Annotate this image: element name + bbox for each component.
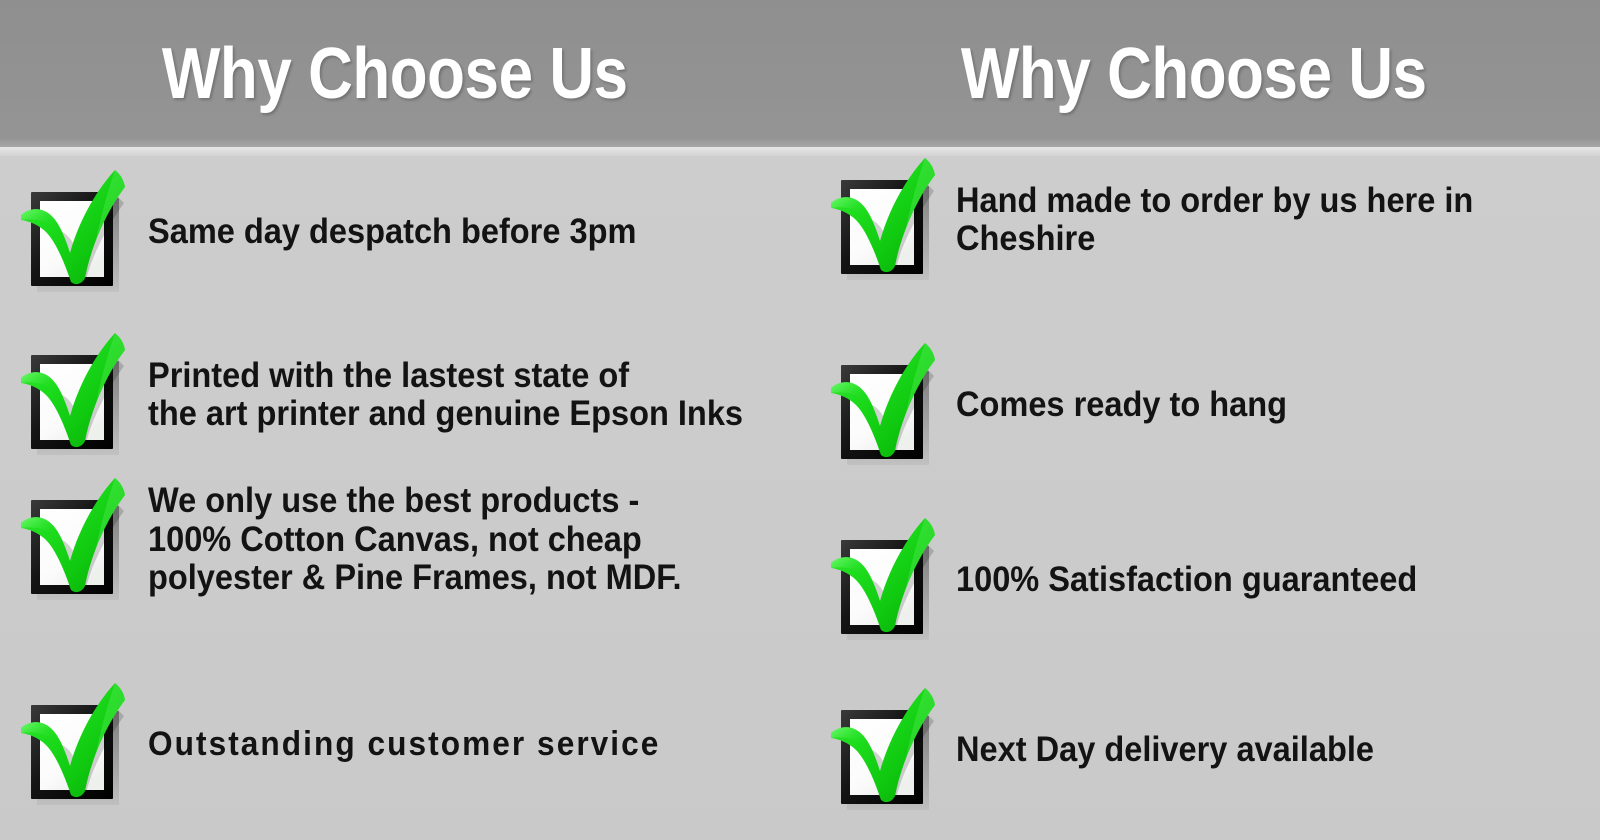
- green-check-mark-icon: [822, 156, 940, 284]
- feature-row-next-day-delivery: Next Day delivery available: [822, 686, 1405, 814]
- green-check-mark-icon: [822, 516, 940, 644]
- feature-row-same-day-despatch: Same day despatch before 3pm: [12, 168, 673, 296]
- feature-row-hand-made-to-order: Hand made to order by us here in Cheshir…: [822, 156, 1512, 284]
- why-choose-us-banner: Why Choose Us Why Choose Us: [0, 0, 1600, 840]
- feature-row-outstanding-customer-service: Outstanding customer service: [12, 681, 699, 809]
- header-band: Why Choose Us Why Choose Us: [0, 0, 1600, 147]
- feature-label-lastest-state-of-the-art-printer: Printed with the lastest state of the ar…: [148, 357, 743, 434]
- green-check-mark-icon: [12, 476, 130, 604]
- green-check-mark-icon: [12, 168, 130, 296]
- header-divider: [0, 147, 1600, 156]
- feature-columns: Same day despatch before 3pm: [0, 156, 1600, 840]
- green-check-mark-icon: [12, 331, 130, 459]
- page-title-right: Why Choose Us: [961, 38, 1427, 110]
- green-check-mark-icon: [12, 168, 130, 296]
- feature-label-outstanding-customer-service: Outstanding customer service: [148, 726, 660, 763]
- page-title-left: Why Choose Us: [162, 38, 628, 110]
- header-half-left: Why Choose Us: [0, 0, 800, 147]
- green-check-mark-icon: [12, 331, 130, 459]
- feature-label-same-day-despatch: Same day despatch before 3pm: [148, 213, 636, 252]
- feature-label-best-products: We only use the best products - 100% Cot…: [148, 482, 682, 598]
- green-check-mark-icon: [822, 686, 940, 814]
- feature-label-hand-made-to-order: Hand made to order by us here in Cheshir…: [956, 182, 1473, 259]
- green-check-mark-icon: [822, 686, 940, 814]
- feature-label-comes-ready-to-hang: Comes ready to hang: [956, 386, 1287, 425]
- green-check-mark-icon: [12, 681, 130, 809]
- green-check-mark-icon: [12, 476, 130, 604]
- left-column: Same day despatch before 3pm: [0, 156, 800, 840]
- feature-label-next-day-delivery: Next Day delivery available: [956, 731, 1374, 770]
- green-check-mark-icon: [822, 156, 940, 284]
- feature-row-satisfaction-guaranteed: 100% Satisfaction guaranteed: [822, 516, 1452, 644]
- header-half-right: Why Choose Us: [800, 0, 1600, 147]
- green-check-mark-icon: [822, 341, 940, 469]
- feature-label-satisfaction-guaranteed: 100% Satisfaction guaranteed: [956, 561, 1417, 600]
- feature-row-comes-ready-to-hang: Comes ready to hang: [822, 341, 1312, 469]
- feature-row-best-products: We only use the best products - 100% Cot…: [12, 476, 722, 604]
- feature-row-lastest-state-of-the-art-printer: Printed with the lastest state of the ar…: [12, 331, 788, 459]
- green-check-mark-icon: [12, 681, 130, 809]
- right-column: Hand made to order by us here in Cheshir…: [800, 156, 1600, 840]
- green-check-mark-icon: [822, 341, 940, 469]
- green-check-mark-icon: [822, 516, 940, 644]
